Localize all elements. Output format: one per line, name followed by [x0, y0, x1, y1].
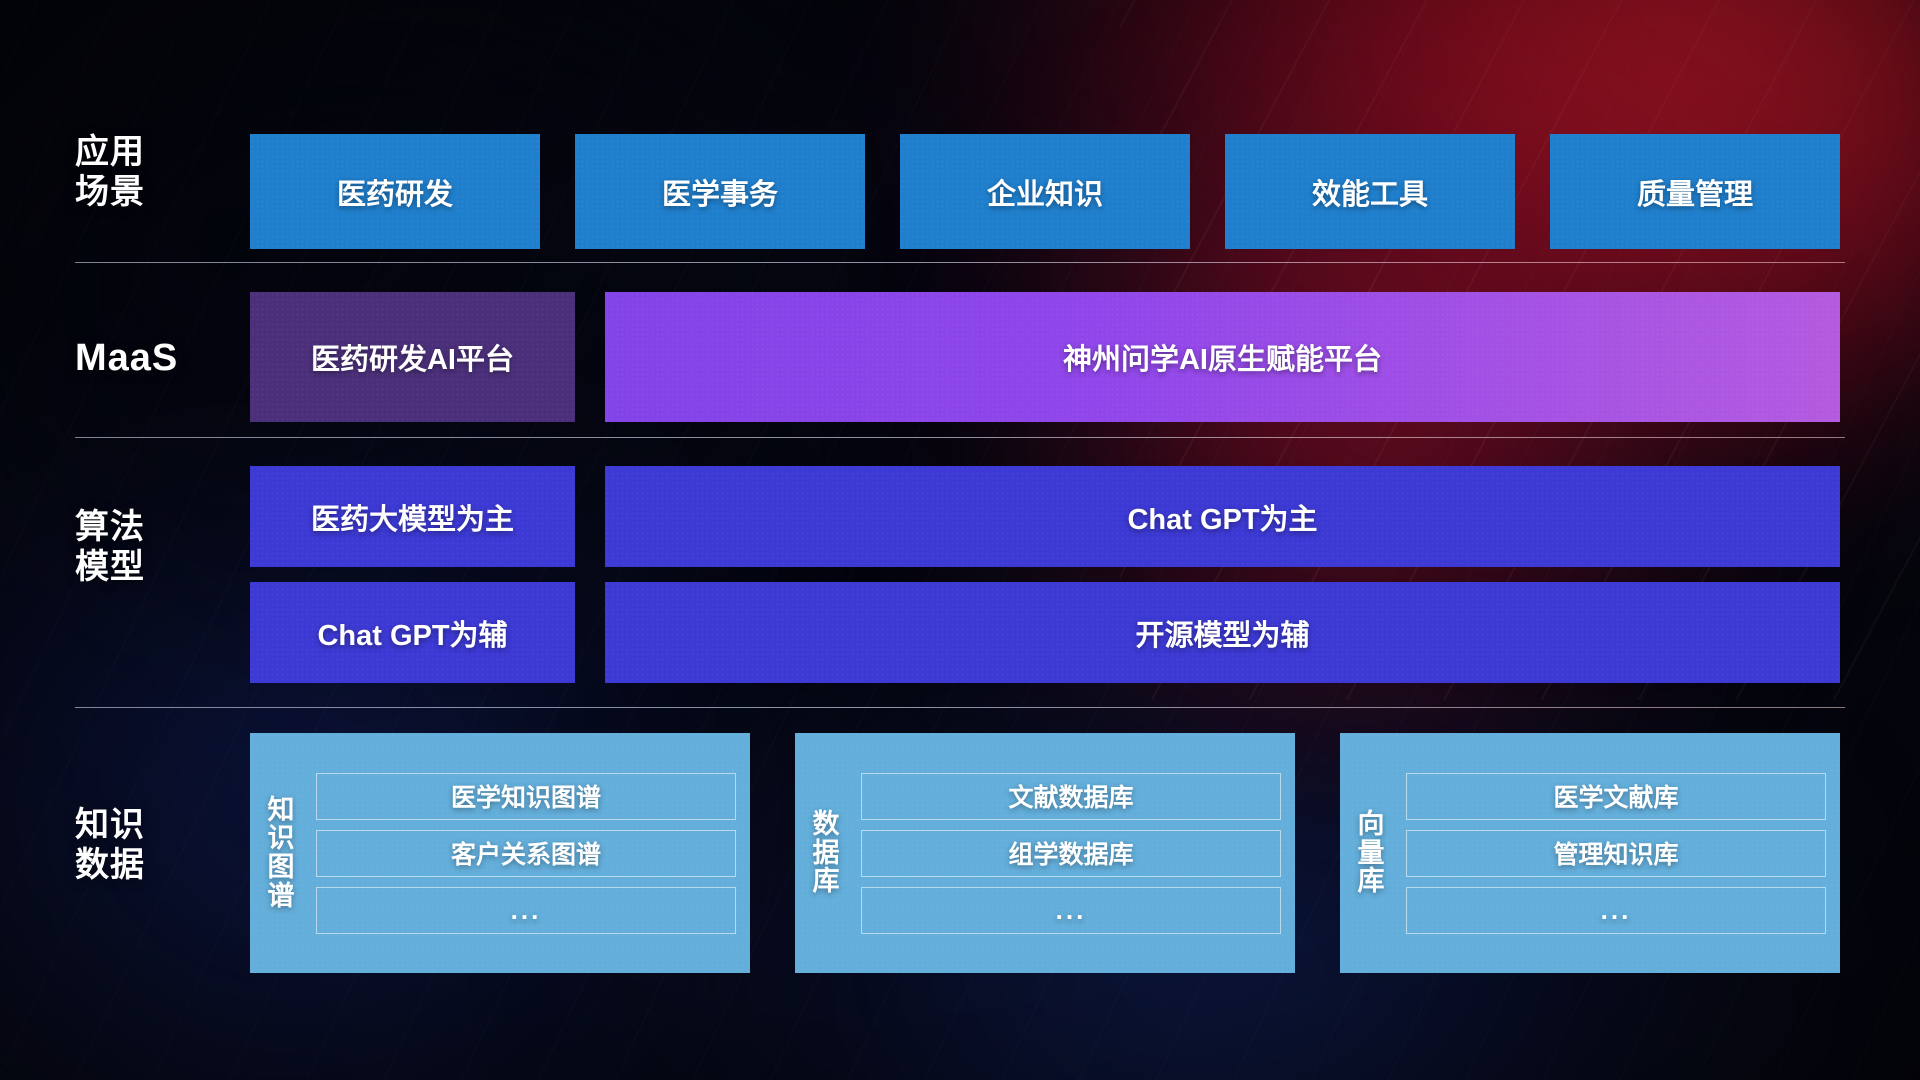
knowledge-item[interactable]: 医学知识图谱: [316, 773, 736, 820]
knowledge-side-label-text: 数据库: [813, 810, 840, 896]
algo-box-label: 开源模型为辅: [1135, 612, 1309, 654]
knowledge-item-more[interactable]: ...: [1406, 887, 1826, 934]
row-label-line: 数据: [75, 845, 235, 885]
knowledge-card-3-items: 医学文献库 管理知识库 ...: [1402, 733, 1840, 973]
knowledge-item[interactable]: 组学数据库: [861, 830, 1281, 877]
app-box-5[interactable]: 质量管理: [1550, 134, 1840, 249]
knowledge-card-2-items: 文献数据库 组学数据库 ...: [857, 733, 1295, 973]
knowledge-item-more[interactable]: ...: [316, 887, 736, 934]
algo-box-label: Chat GPT为辅: [317, 612, 507, 654]
row-label-knowledge-data: 知识 数据: [75, 805, 235, 885]
knowledge-card-3[interactable]: 向量库 医学文献库 管理知识库 ...: [1340, 733, 1840, 973]
knowledge-card-1-side-label: 知识图谱: [250, 733, 312, 973]
knowledge-card-2[interactable]: 数据库 文献数据库 组学数据库 ...: [795, 733, 1295, 973]
row-label-line: 模型: [75, 547, 235, 587]
knowledge-item[interactable]: 医学文献库: [1406, 773, 1826, 820]
row-label-application-scenarios: 应用 场景: [75, 132, 235, 212]
maas-left-box[interactable]: 医药研发AI平台: [250, 292, 575, 422]
algo-left-box-1[interactable]: 医药大模型为主: [250, 466, 575, 567]
algo-right-box-2[interactable]: 开源模型为辅: [605, 582, 1840, 683]
app-box-4[interactable]: 效能工具: [1225, 134, 1515, 249]
knowledge-side-label-text: 向量库: [1358, 810, 1385, 896]
row-label-algorithm-model: 算法 模型: [75, 507, 235, 587]
maas-left-label: 医药研发AI平台: [311, 336, 514, 378]
maas-right-box[interactable]: 神州问学AI原生赋能平台: [605, 292, 1840, 422]
app-box-label: 质量管理: [1637, 171, 1753, 213]
app-box-label: 医学事务: [662, 171, 778, 213]
knowledge-item[interactable]: 管理知识库: [1406, 830, 1826, 877]
app-box-1[interactable]: 医药研发: [250, 134, 540, 249]
architecture-diagram: 应用 场景 医药研发 医学事务 企业知识 效能工具 质量管理 MaaS: [0, 0, 1920, 1080]
algo-box-label: 医药大模型为主: [311, 496, 514, 538]
algo-box-label: Chat GPT为主: [1127, 496, 1317, 538]
row-label-line: 知识: [75, 805, 235, 845]
knowledge-card-2-side-label: 数据库: [795, 733, 857, 973]
app-box-label: 效能工具: [1312, 171, 1428, 213]
row-label-line: 场景: [75, 172, 235, 212]
divider-1: [75, 262, 1845, 263]
app-box-label: 企业知识: [987, 171, 1103, 213]
knowledge-item-more[interactable]: ...: [861, 887, 1281, 934]
knowledge-card-1-items: 医学知识图谱 客户关系图谱 ...: [312, 733, 750, 973]
app-box-2[interactable]: 医学事务: [575, 134, 865, 249]
app-box-3[interactable]: 企业知识: [900, 134, 1190, 249]
row-label-line: MaaS: [75, 336, 235, 381]
row-label-line: 应用: [75, 132, 235, 172]
divider-3: [75, 707, 1845, 708]
row-label-maas: MaaS: [75, 336, 235, 381]
algo-right-box-1[interactable]: Chat GPT为主: [605, 466, 1840, 567]
knowledge-item[interactable]: 文献数据库: [861, 773, 1281, 820]
knowledge-side-label-text: 知识图谱: [268, 796, 295, 910]
maas-right-label: 神州问学AI原生赋能平台: [1063, 336, 1382, 378]
app-box-label: 医药研发: [337, 171, 453, 213]
algo-left-box-2[interactable]: Chat GPT为辅: [250, 582, 575, 683]
row-label-line: 算法: [75, 507, 235, 547]
knowledge-card-3-side-label: 向量库: [1340, 733, 1402, 973]
knowledge-card-1[interactable]: 知识图谱 医学知识图谱 客户关系图谱 ...: [250, 733, 750, 973]
divider-2: [75, 437, 1845, 438]
knowledge-item[interactable]: 客户关系图谱: [316, 830, 736, 877]
